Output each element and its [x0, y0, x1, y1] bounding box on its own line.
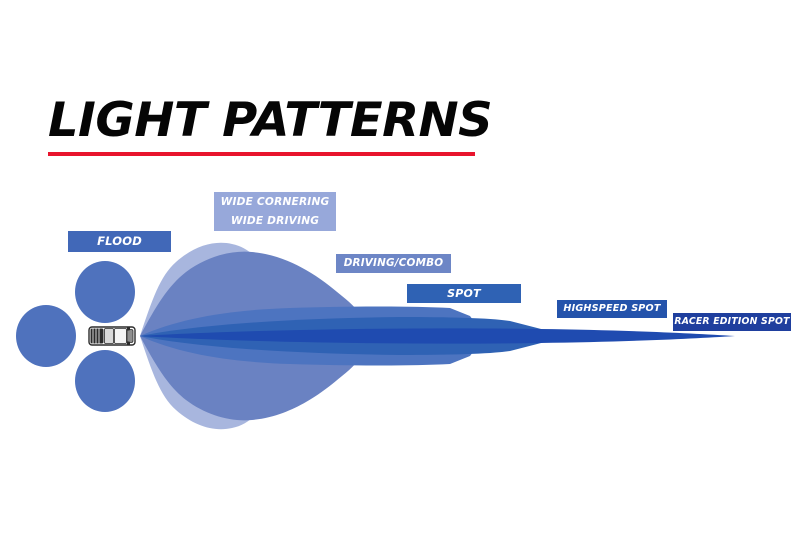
diagram-canvas: LIGHT PATTERNS FLOOD [0, 0, 800, 540]
label-flood: FLOOD [68, 231, 171, 252]
flood-circle-bottom [75, 350, 135, 412]
label-spot: SPOT [407, 284, 521, 303]
flood-circle-top [75, 261, 135, 323]
flood-circle-left [16, 305, 76, 367]
label-wide-cornering-line1: WIDE CORNERING [214, 193, 336, 212]
label-highspeed-spot: HIGHSPEED SPOT [557, 300, 667, 318]
label-driving-combo: DRIVING/COMBO [336, 254, 451, 273]
label-wide-cornering-wide-driving: WIDE CORNERING WIDE DRIVING [214, 192, 336, 231]
truck-top-view-icon [88, 325, 136, 347]
label-racer-edition-spot: RACER EDITION SPOT [673, 313, 791, 331]
label-wide-driving-line2: WIDE DRIVING [214, 212, 336, 231]
